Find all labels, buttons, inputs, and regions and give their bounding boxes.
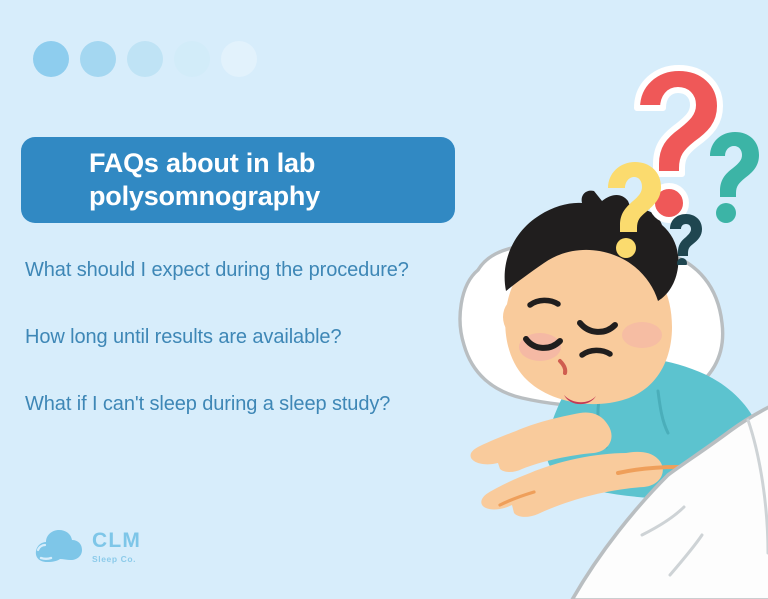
question-mark-teal <box>710 132 759 223</box>
brand-logo[interactable]: CLM Sleep Co. <box>33 528 141 566</box>
question-mark-small-dark <box>670 214 702 265</box>
decorative-dot-2 <box>80 41 116 77</box>
cloud-icon <box>33 528 83 566</box>
faq-question-3[interactable]: What if I can't sleep during a sleep stu… <box>25 392 495 416</box>
decorative-dot-4 <box>174 41 210 77</box>
decorative-dot-3 <box>127 41 163 77</box>
decorative-dots-row <box>33 41 257 77</box>
logo-tagline: Sleep Co. <box>92 555 141 564</box>
faq-graphic-canvas: FAQs about in lab polysomnography What s… <box>0 0 768 599</box>
title-band: FAQs about in lab polysomnography <box>21 137 455 223</box>
cheek-right <box>622 322 662 348</box>
decorative-dot-5 <box>221 41 257 77</box>
page-title: FAQs about in lab polysomnography <box>21 147 334 213</box>
question-marks-cluster <box>590 60 768 265</box>
faq-question-list: What should I expect during the procedur… <box>25 258 495 459</box>
logo-wordmark: CLM Sleep Co. <box>92 530 141 564</box>
decorative-dot-1 <box>33 41 69 77</box>
faq-question-1[interactable]: What should I expect during the procedur… <box>25 258 495 282</box>
logo-name: CLM <box>92 530 141 551</box>
faq-question-2[interactable]: How long until results are available? <box>25 325 495 349</box>
